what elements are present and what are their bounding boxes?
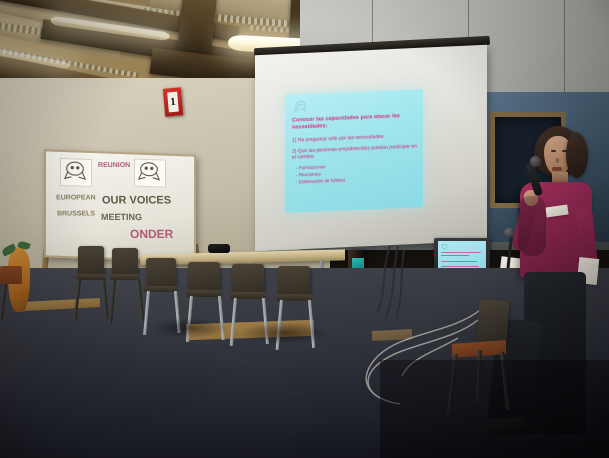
slide-point-2: 2) Que las personas empobrecidas puedan … (292, 143, 418, 161)
presenter-eye-left (551, 150, 556, 152)
wall-cables (360, 246, 420, 326)
slide-logo-icon (292, 99, 309, 116)
board-logo-left (60, 158, 92, 187)
equipment-on-back-table (208, 244, 230, 253)
board-left-scribble-1: EUROPEAN (56, 194, 96, 201)
presentation-photo: 1 Conocer las capacidades para atacar la… (0, 0, 609, 458)
board-header-note: REUNION (98, 162, 131, 169)
board-line-1: OUR VOICES (102, 195, 171, 207)
presenter-nose (556, 158, 559, 163)
slide-point-1: 1) No preguntar sólo por las necesidades (292, 132, 418, 144)
board-left-scribble-2: BRUSSELS (57, 210, 95, 217)
beam-sign-number: 1 (167, 91, 180, 113)
microphone-head-icon (530, 156, 541, 167)
projected-slide: Conocer las capacidades para atacar las … (285, 89, 423, 213)
person-behind-table (518, 196, 546, 256)
board-line-3: ONDER (130, 227, 174, 241)
foreground-shadow (380, 360, 609, 458)
slide-heading: Conocer las capacidades para atacar las … (292, 112, 418, 131)
laptop-slide-logo-icon (440, 243, 449, 251)
presenter-hair-side (566, 132, 588, 178)
chair-wood-left[interactable] (0, 266, 22, 284)
board-logo-right (134, 158, 166, 187)
board-line-2: MEETING (101, 212, 142, 222)
whiteboard: REUNION EUROPEAN OUR VOICES BRUSSELS MEE… (44, 149, 196, 262)
slide-body: Conocer las capacidades para atacar las … (292, 112, 418, 186)
beam-number-sign: 1 (163, 87, 183, 116)
presenter-mouth (552, 167, 562, 171)
